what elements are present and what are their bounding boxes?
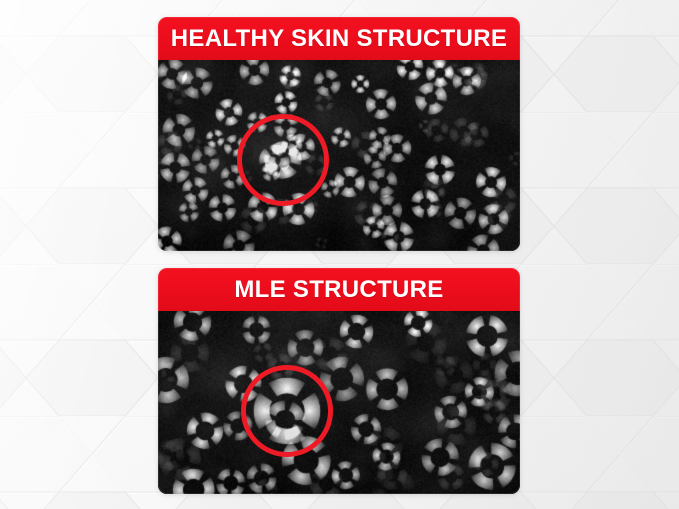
panel-healthy-skin: HEALTHY SKIN STRUCTURE — [158, 17, 520, 251]
marker-circle-mle — [241, 365, 333, 457]
comparison-figure: HEALTHY SKIN STRUCTURE MLE STRUCTURE — [0, 0, 679, 509]
micrograph-mle-structure — [158, 311, 520, 494]
panel-mle-banner: MLE STRUCTURE — [158, 268, 520, 311]
panel-healthy-banner-label: HEALTHY SKIN STRUCTURE — [171, 27, 507, 51]
micrograph-mle-canvas — [158, 311, 520, 494]
panel-mle-structure: MLE STRUCTURE — [158, 268, 520, 494]
panel-healthy-banner: HEALTHY SKIN STRUCTURE — [158, 17, 520, 60]
marker-circle-healthy — [237, 114, 329, 206]
panel-mle-banner-label: MLE STRUCTURE — [234, 278, 443, 302]
micrograph-healthy-canvas — [158, 60, 520, 251]
micrograph-healthy-skin — [158, 60, 520, 251]
